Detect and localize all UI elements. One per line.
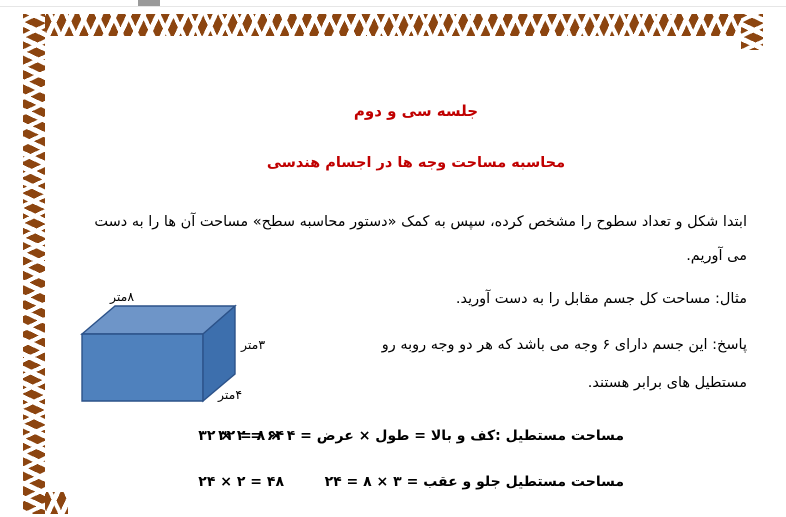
prism-front-face [82,334,203,401]
example-statement: مثال: مساحت کل جسم مقابل را به دست آورید… [285,282,747,316]
dimension-label-bottom: ۴متر [218,387,242,402]
frame-band-top [23,14,763,36]
page-title: جلسه سی و دوم [68,102,764,120]
top-divider-line [0,6,786,7]
decorative-frame: جلسه سی و دوم محاسبه مساحت وجه ها در اجس… [23,14,763,514]
dimension-label-right: ۳متر [241,337,265,352]
rectangular-prism-figure: ۸متر ۳متر ۴متر [70,288,285,413]
page-subtitle: محاسبه مساحت وجه ها در اجسام هندسی [68,155,764,171]
intro-paragraph: ابتدا شکل و تعداد سطوح را مشخص کرده، سپس… [87,205,747,273]
answer-line-1: پاسخ: این جسم دارای ۶ وجه می باشد که هر … [285,328,747,362]
dimension-label-top: ۸متر [110,289,134,304]
answer-line-2: مستطیل های برابر هستند. [285,366,747,400]
equation-1-side: ۶۴ = ۲ × ۳۲ [198,428,284,444]
slide-content: جلسه سی و دوم محاسبه مساحت وجه ها در اجس… [68,50,764,517]
equation-2-main: مساحت مستطیل جلو و عقب = ۳ × ۸ = ۲۴ [325,474,624,490]
frame-band-left [23,14,45,514]
equation-2-side: ۴۸ = ۲ × ۲۴ [198,474,284,490]
